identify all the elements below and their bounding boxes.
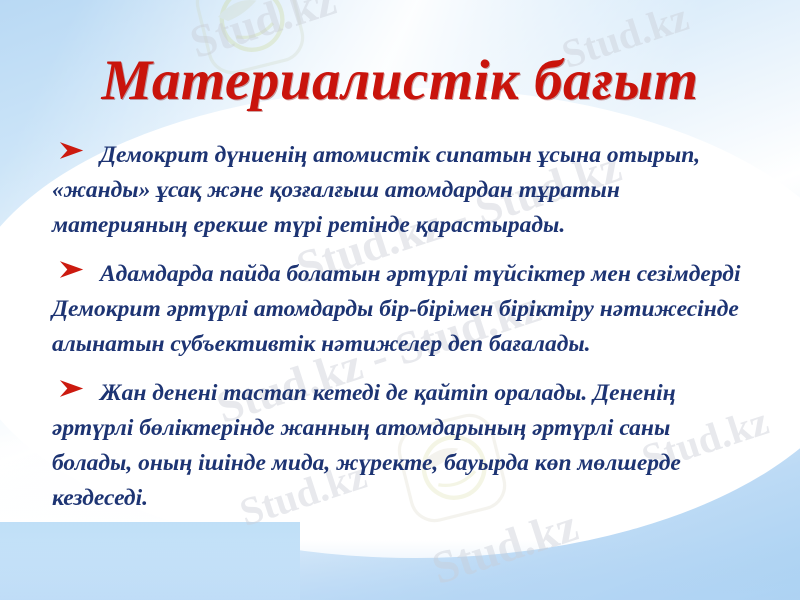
slide-body: Демокрит дүниенің атомистік сипатын ұсын… xyxy=(52,138,752,530)
bullet-item: Адамдарда пайда болатын әртүрлі түйсікте… xyxy=(52,257,752,362)
bullet-item: Демокрит дүниенің атомистік сипатын ұсын… xyxy=(52,138,752,243)
arrowhead-right-icon xyxy=(58,140,88,166)
arrowhead-right-icon xyxy=(58,259,88,285)
bullet-text: Жан денені тастап кетеді де қайтіп орала… xyxy=(52,376,752,516)
arrowhead-right-icon xyxy=(58,378,88,404)
bullet-text: Демокрит дүниенің атомистік сипатын ұсын… xyxy=(52,138,752,243)
bullet-item: Жан денені тастап кетеді де қайтіп орала… xyxy=(52,376,752,516)
presentation-slide: Stud.kz Stud.kz Stud.kz - Stud.kz Stud.k… xyxy=(0,0,800,600)
slide-title: Материалистік бағыт xyxy=(0,48,800,113)
bullet-text: Адамдарда пайда болатын әртүрлі түйсікте… xyxy=(52,257,752,362)
background-band-bottom xyxy=(0,540,800,600)
